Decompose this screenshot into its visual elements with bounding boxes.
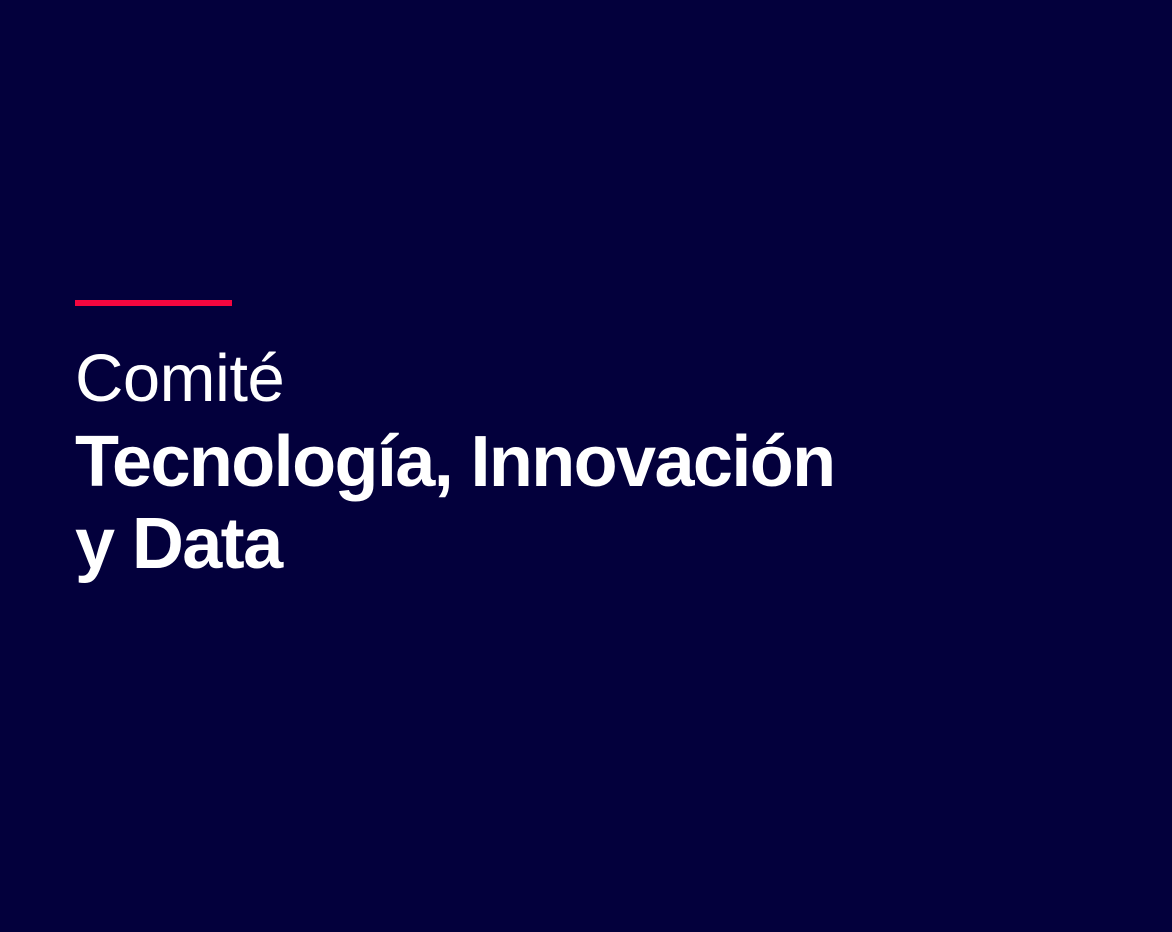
page-title: Tecnología, Innovación y Data bbox=[75, 421, 875, 585]
title-slide: Comité Tecnología, Innovación y Data bbox=[0, 0, 1172, 932]
slide-eyebrow: Comité bbox=[75, 340, 975, 418]
accent-rule-divider bbox=[75, 300, 232, 306]
title-block: Comité Tecnología, Innovación y Data bbox=[75, 300, 975, 585]
page-title-line-1: Tecnología, Innovación bbox=[75, 421, 875, 503]
page-title-line-2: y Data bbox=[75, 503, 875, 585]
